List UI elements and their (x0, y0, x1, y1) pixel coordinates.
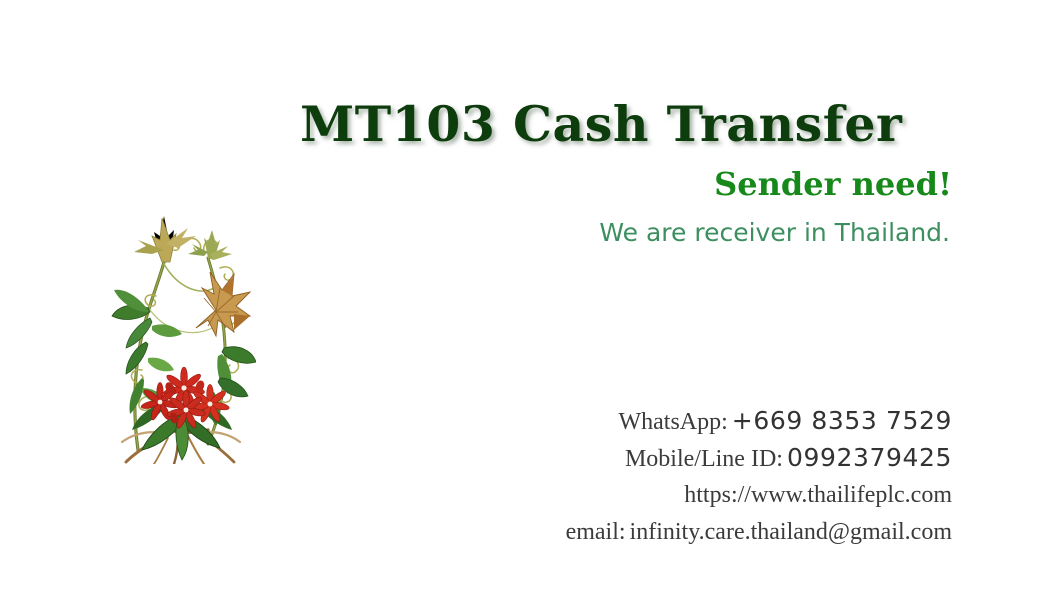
contact-website: https://www.thailifeplc.com (520, 478, 952, 515)
floral-vine-illustration (104, 192, 256, 464)
mobile-line-id-label: Mobile/Line ID: (625, 446, 783, 472)
email-label: email: (566, 519, 626, 545)
contact-details: WhatsApp: +669 8353 7529 Mobile/Line ID:… (520, 404, 952, 552)
headline-block: MT103 Cash Transfer Sender need! We are … (300, 96, 956, 250)
whatsapp-number[interactable]: +669 8353 7529 (732, 406, 952, 435)
contact-whatsapp: WhatsApp: +669 8353 7529 (520, 404, 952, 441)
business-card-canvas: MT103 Cash Transfer Sender need! We are … (0, 0, 1063, 600)
contact-email: email: infinity.care.thailand@gmail.com (520, 515, 952, 552)
contact-mobile: Mobile/Line ID: 0992379425 (520, 441, 952, 478)
mobile-line-id-number[interactable]: 0992379425 (787, 443, 952, 472)
tagline: We are receiver in Thailand. (300, 216, 956, 250)
email-address[interactable]: infinity.care.thailand@gmail.com (630, 519, 952, 545)
whatsapp-label: WhatsApp: (618, 409, 727, 435)
illustration-top-foliage (134, 216, 232, 262)
page-title: MT103 Cash Transfer (300, 96, 956, 152)
illustration-red-flowers (140, 367, 229, 429)
subtitle: Sender need! (300, 164, 956, 204)
website-link[interactable]: https://www.thailifeplc.com (684, 482, 952, 508)
